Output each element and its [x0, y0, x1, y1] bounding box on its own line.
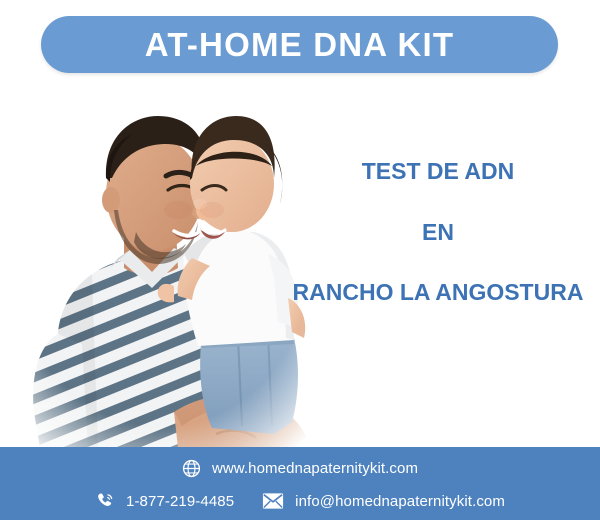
phone-label: 1-877-219-4485 [126, 493, 234, 510]
headline-block: TEST DE ADN EN RANCHO LA ANGOSTURA [282, 158, 594, 307]
headline-line-1: TEST DE ADN [282, 158, 594, 186]
footer-row-website: www.homednapaternitykit.com [0, 447, 600, 485]
header-banner: AT-HOME DNA KIT [41, 16, 558, 73]
footer-row-phone-email: 1-877-219-4485 info@homednapaternitykit.… [0, 485, 600, 517]
footer-contact-bar: www.homednapaternitykit.com 1-877-219-44… [0, 447, 600, 520]
contact-website[interactable]: www.homednapaternitykit.com [182, 459, 418, 478]
page-title: AT-HOME DNA KIT [145, 28, 454, 61]
envelope-icon [262, 492, 284, 510]
globe-icon [182, 459, 201, 478]
phone-icon [95, 491, 115, 511]
website-label: www.homednapaternitykit.com [212, 460, 418, 477]
contact-email[interactable]: info@homednapaternitykit.com [262, 492, 505, 510]
family-photo-illustration [6, 82, 318, 448]
contact-phone[interactable]: 1-877-219-4485 [95, 491, 234, 511]
headline-line-3: RANCHO LA ANGOSTURA [282, 279, 594, 307]
email-label: info@homednapaternitykit.com [295, 493, 505, 510]
headline-line-2: EN [282, 219, 594, 247]
family-photo [6, 82, 318, 448]
poster-canvas: AT-HOME DNA KIT [0, 0, 600, 520]
